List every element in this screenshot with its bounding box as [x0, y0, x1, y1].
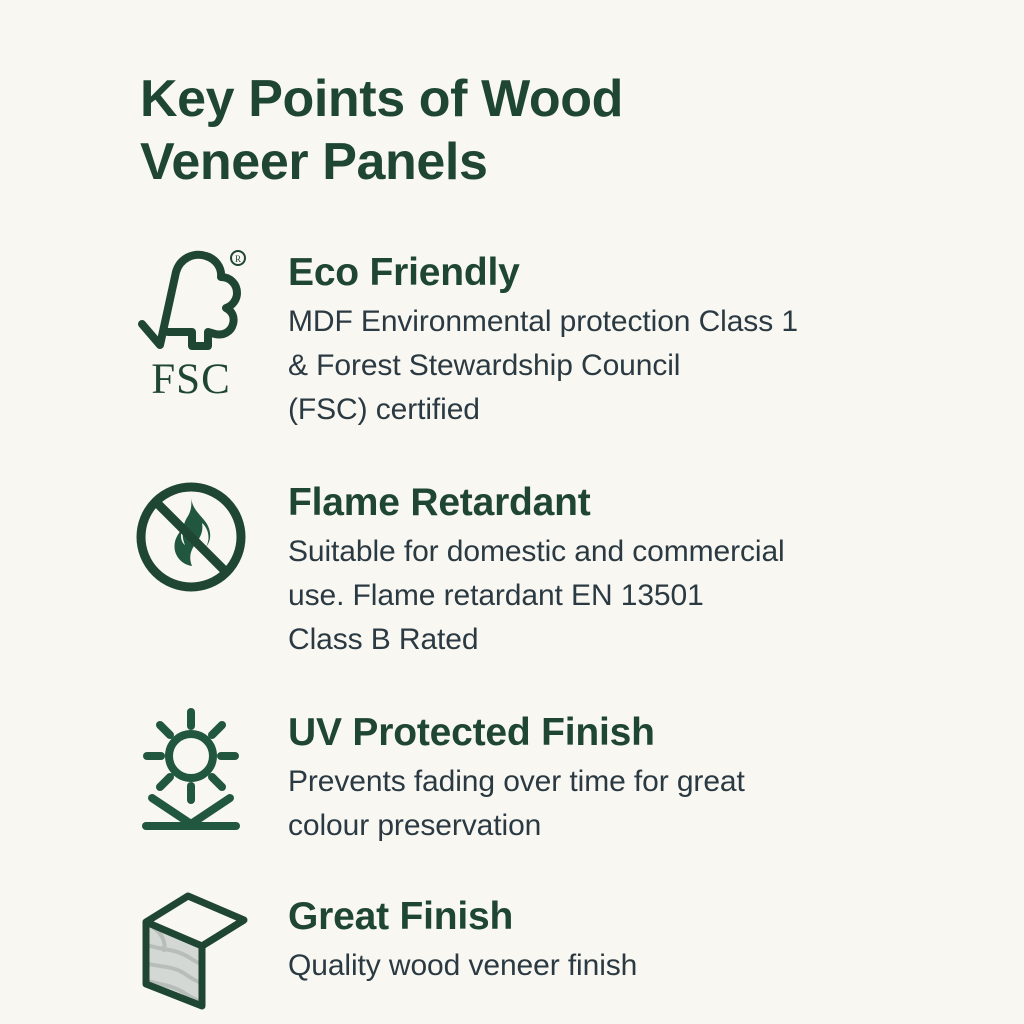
- infographic-page: Key Points of Wood Veneer Panels R FSC E…: [0, 0, 1024, 1024]
- svg-text:R: R: [235, 254, 241, 264]
- feature-icon-slot: [126, 888, 256, 1014]
- feature-heading: Eco Friendly: [288, 252, 798, 294]
- feature-body: Suitable for domestic and commercial use…: [288, 530, 785, 661]
- registered-mark-icon: R: [231, 251, 245, 265]
- page-title: Key Points of Wood Veneer Panels: [140, 68, 760, 195]
- feature-body: Quality wood veneer finish: [288, 944, 637, 988]
- feature-row-eco-friendly: R FSC Eco Friendly MDF Environmental pro…: [126, 248, 986, 432]
- feature-body: Prevents fading over time for great colo…: [288, 760, 745, 848]
- sun-uv-icon: [132, 706, 250, 832]
- feature-row-uv-protected: UV Protected Finish Prevents fading over…: [126, 706, 986, 848]
- feature-body: MDF Environmental protection Class 1 & F…: [288, 300, 798, 431]
- feature-heading: Great Finish: [288, 896, 637, 938]
- feature-icon-slot: [126, 706, 256, 832]
- feature-icon-slot: [126, 478, 256, 596]
- feature-heading: Flame Retardant: [288, 482, 785, 524]
- feature-text-block: Great Finish Quality wood veneer finish: [256, 888, 637, 988]
- feature-icon-slot: R FSC: [126, 248, 256, 401]
- feature-row-great-finish: Great Finish Quality wood veneer finish: [126, 888, 986, 1014]
- wood-panel-icon: [132, 888, 250, 1014]
- feature-row-flame-retardant: Flame Retardant Suitable for domestic an…: [126, 478, 986, 662]
- no-flame-icon: [132, 478, 250, 596]
- feature-text-block: Flame Retardant Suitable for domestic an…: [256, 478, 785, 662]
- fsc-label: FSC: [151, 358, 231, 401]
- feature-text-block: UV Protected Finish Prevents fading over…: [256, 706, 745, 848]
- feature-heading: UV Protected Finish: [288, 712, 745, 754]
- fsc-tree-icon: R FSC: [132, 248, 250, 401]
- feature-text-block: Eco Friendly MDF Environmental protectio…: [256, 248, 798, 432]
